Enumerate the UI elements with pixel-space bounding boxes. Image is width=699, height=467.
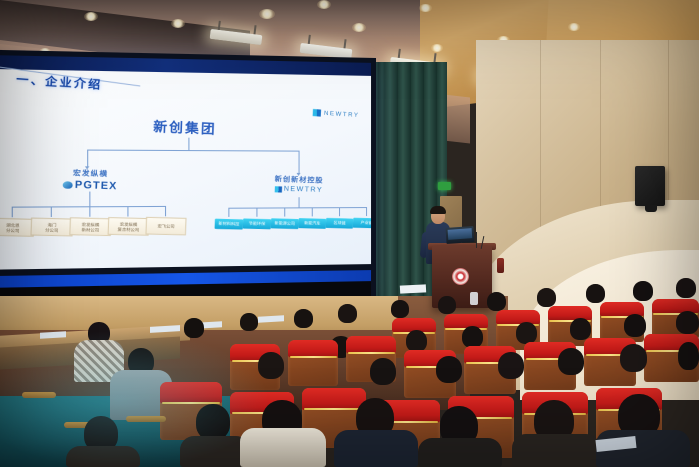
audience-head	[184, 318, 204, 338]
audience-head	[240, 313, 258, 331]
audience-head	[438, 296, 456, 314]
org-leaf-node: 湖北恩 分公司	[0, 218, 34, 237]
org-connector	[228, 207, 367, 209]
org-cyan-node: 节能环保	[243, 218, 271, 229]
audience-shoulders	[418, 438, 502, 467]
slide-corner-logo: NEWTRY	[312, 109, 359, 119]
org-root-node: 新创集团	[153, 116, 217, 138]
seat-trim	[290, 356, 337, 358]
leaf-line-2: 分公司	[45, 227, 58, 233]
recessed-downlight	[317, 0, 331, 9]
seat-cushion	[288, 340, 338, 357]
branch-right-logo-text: NEWTRY	[284, 186, 324, 194]
recessed-downlight	[431, 44, 443, 52]
org-connector	[256, 208, 257, 217]
audience-head	[516, 322, 537, 344]
seat-cushion	[444, 314, 488, 328]
org-connector	[165, 206, 166, 216]
audience-head	[676, 278, 696, 298]
audience-head	[676, 311, 699, 334]
cyan-node-label: 新材料科技	[218, 221, 239, 228]
leaf-line-1: 宏飞公司	[157, 223, 174, 229]
recessed-downlight	[352, 23, 366, 32]
org-connector	[87, 150, 298, 152]
audience-head	[338, 304, 357, 323]
cyan-node-label: 节能环保	[249, 221, 266, 228]
audience-shoulders	[334, 430, 418, 467]
audience-head	[620, 344, 647, 372]
audience-head	[258, 352, 284, 379]
exit-sign-icon	[438, 182, 451, 190]
org-connector	[51, 206, 52, 217]
org-leaf-node: 海门 分公司	[30, 217, 73, 236]
audience-shoulders	[240, 428, 326, 467]
cyan-node-label: 产业链	[360, 220, 371, 226]
water-bottle	[497, 258, 504, 273]
org-branch-left-brand: 宏发纵横 PGTEX	[40, 167, 139, 193]
seat-armrest	[22, 392, 56, 398]
org-branch-right-brand: 新创新材控股 NEWTRY	[255, 173, 342, 194]
seat-trim	[348, 352, 395, 354]
org-cyan-node: 新能源公司	[271, 218, 299, 229]
presenter-hair	[430, 206, 446, 214]
lecture-hall-scene: 一、企业介绍 NEWTRY 新创集团 宏发纵横 PGTEX	[0, 0, 699, 467]
org-connector	[299, 151, 300, 173]
audience-head	[406, 330, 427, 352]
cyan-node-label: 区块链	[333, 220, 345, 226]
org-leaf-node: 宏飞公司	[145, 217, 186, 236]
papers-on-stage	[400, 284, 426, 293]
org-cyan-node: 产业链	[353, 218, 371, 229]
slide-content: 一、企业介绍 NEWTRY 新创集团 宏发纵横 PGTEX	[0, 55, 371, 270]
org-connector	[87, 150, 88, 167]
recessed-downlight	[419, 4, 432, 12]
audience-head	[391, 300, 409, 318]
slide-section-title: 一、企业介绍	[16, 70, 103, 93]
org-cyan-node: 新能汽车	[298, 218, 326, 229]
org-connector	[299, 197, 300, 207]
recessed-downlight	[568, 23, 580, 31]
org-connector	[188, 138, 189, 150]
microphone	[476, 232, 477, 248]
seat-cushion	[302, 388, 366, 410]
newtry-mark-icon	[312, 109, 320, 117]
projection-screen: 一、企业介绍 NEWTRY 新创集团 宏发纵横 PGTEX	[0, 50, 376, 311]
org-connector	[366, 207, 367, 216]
seat-trim	[304, 408, 364, 410]
auditorium-seat	[288, 340, 338, 386]
org-cyan-node: 区块链	[326, 218, 353, 229]
org-connector	[284, 207, 285, 216]
leaf-line-2: 复合材公司	[117, 226, 139, 232]
recessed-downlight	[171, 19, 185, 28]
audience-head	[196, 404, 230, 440]
audience-shoulders	[66, 446, 140, 467]
org-connector	[127, 206, 128, 216]
slide-corner-logo-text: NEWTRY	[323, 110, 359, 118]
org-connector	[339, 207, 340, 216]
university-crest-icon	[452, 268, 469, 285]
cyan-node-label: 新能源公司	[274, 220, 295, 227]
cyan-node-label: 新能汽车	[304, 220, 320, 227]
org-connector	[228, 208, 229, 217]
audience-head	[462, 326, 483, 348]
audience-head	[586, 284, 605, 303]
audience-head	[678, 342, 699, 370]
newtry-mark-icon	[274, 186, 281, 192]
audience-shoulders	[512, 434, 600, 467]
org-cyan-node: 新材料科技	[215, 219, 244, 230]
wall-speaker-icon	[635, 166, 665, 206]
audience-head	[537, 288, 556, 307]
leaf-line-2: 新材公司	[81, 227, 99, 233]
org-connector	[89, 192, 90, 207]
org-leaf-node: 宏发纵横 复合材公司	[108, 217, 150, 236]
water-bottle	[470, 292, 478, 305]
presenter-laptop	[445, 226, 474, 244]
newtry-logo: NEWTRY	[255, 185, 342, 195]
audience-head	[487, 292, 506, 311]
pgtex-mark-icon	[63, 181, 73, 189]
seat-armrest	[126, 416, 166, 422]
audience-head	[570, 318, 591, 340]
audience-head	[436, 356, 462, 383]
org-leaf-node: 宏发纵横 新材公司	[69, 217, 111, 236]
audience-head	[370, 358, 396, 385]
seat-cushion	[496, 310, 540, 324]
org-connector	[12, 207, 13, 218]
seat-cushion	[346, 336, 396, 353]
audience-head	[558, 348, 584, 375]
recessed-downlight	[259, 9, 275, 19]
audience-head	[498, 352, 524, 379]
org-connector	[89, 206, 90, 217]
recessed-downlight	[84, 12, 98, 21]
seat-cushion	[160, 382, 222, 403]
branch-left-logo-text: PGTEX	[75, 179, 118, 192]
leaf-line-2: 分公司	[6, 227, 20, 233]
audience-head	[294, 309, 313, 328]
audience-head	[624, 314, 646, 337]
audience-head	[633, 281, 653, 301]
org-connector	[312, 207, 313, 216]
